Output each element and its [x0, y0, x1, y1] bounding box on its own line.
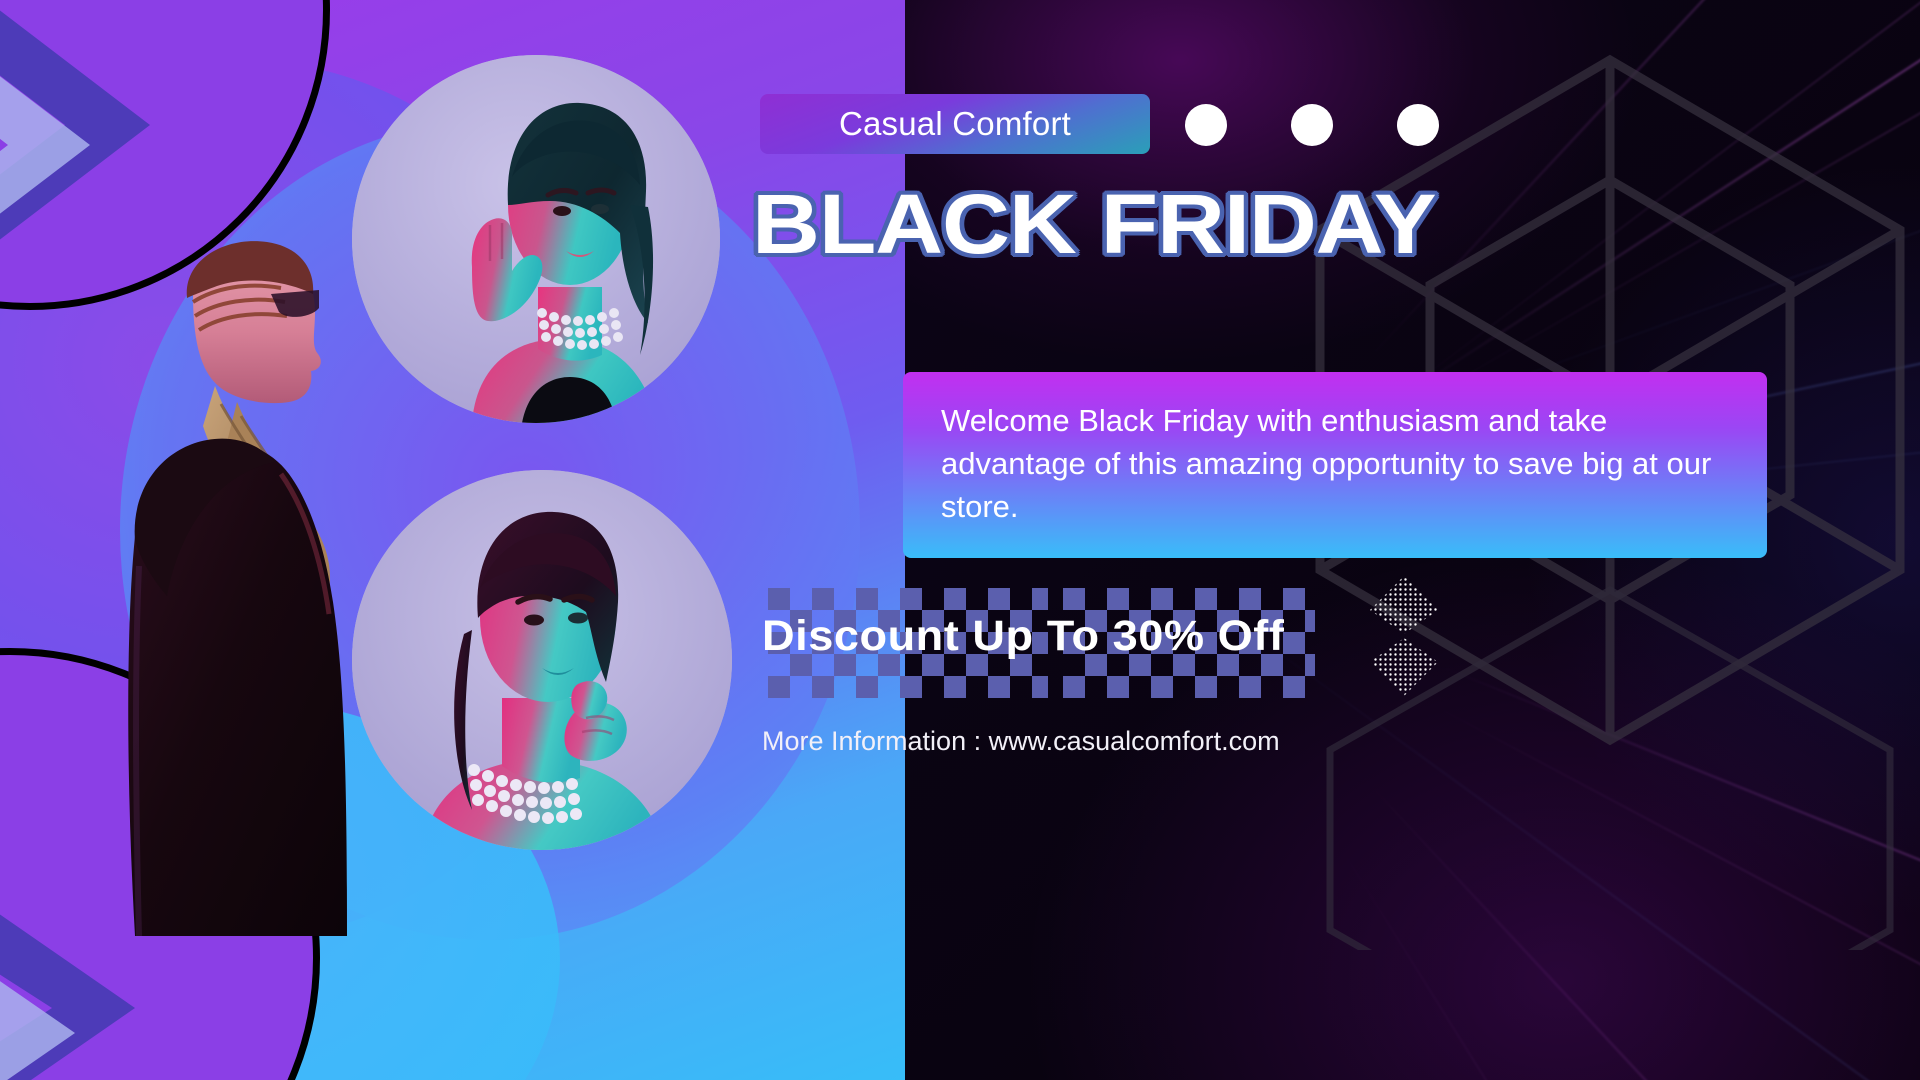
black-friday-banner: Casual Comfort BLACK FRIDAY Welcome Blac…: [0, 0, 1920, 1080]
halftone-diamond-ornament: [1368, 572, 1440, 700]
model-portrait-top: [352, 55, 720, 423]
brand-badge[interactable]: Casual Comfort: [760, 94, 1150, 154]
model-portrait-bottom: [352, 470, 732, 850]
decorative-dot: [1397, 104, 1439, 146]
decorative-dots-group: [1185, 104, 1439, 146]
brand-badge-label: Casual Comfort: [839, 105, 1071, 143]
discount-text: Discount Up To 30% Off: [762, 612, 1284, 661]
model-photo-circle-top: [352, 55, 720, 423]
decorative-dot: [1185, 104, 1227, 146]
decorative-dot: [1291, 104, 1333, 146]
more-information-text[interactable]: More Information : www.casualcomfort.com: [762, 726, 1280, 757]
collage-panel: [0, 0, 905, 1080]
model-photo-circle-bottom: [352, 470, 732, 850]
description-panel: Welcome Black Friday with enthusiasm and…: [903, 372, 1767, 558]
description-text: Welcome Black Friday with enthusiasm and…: [941, 400, 1729, 528]
headline-black-friday: BLACK FRIDAY: [752, 182, 1536, 266]
